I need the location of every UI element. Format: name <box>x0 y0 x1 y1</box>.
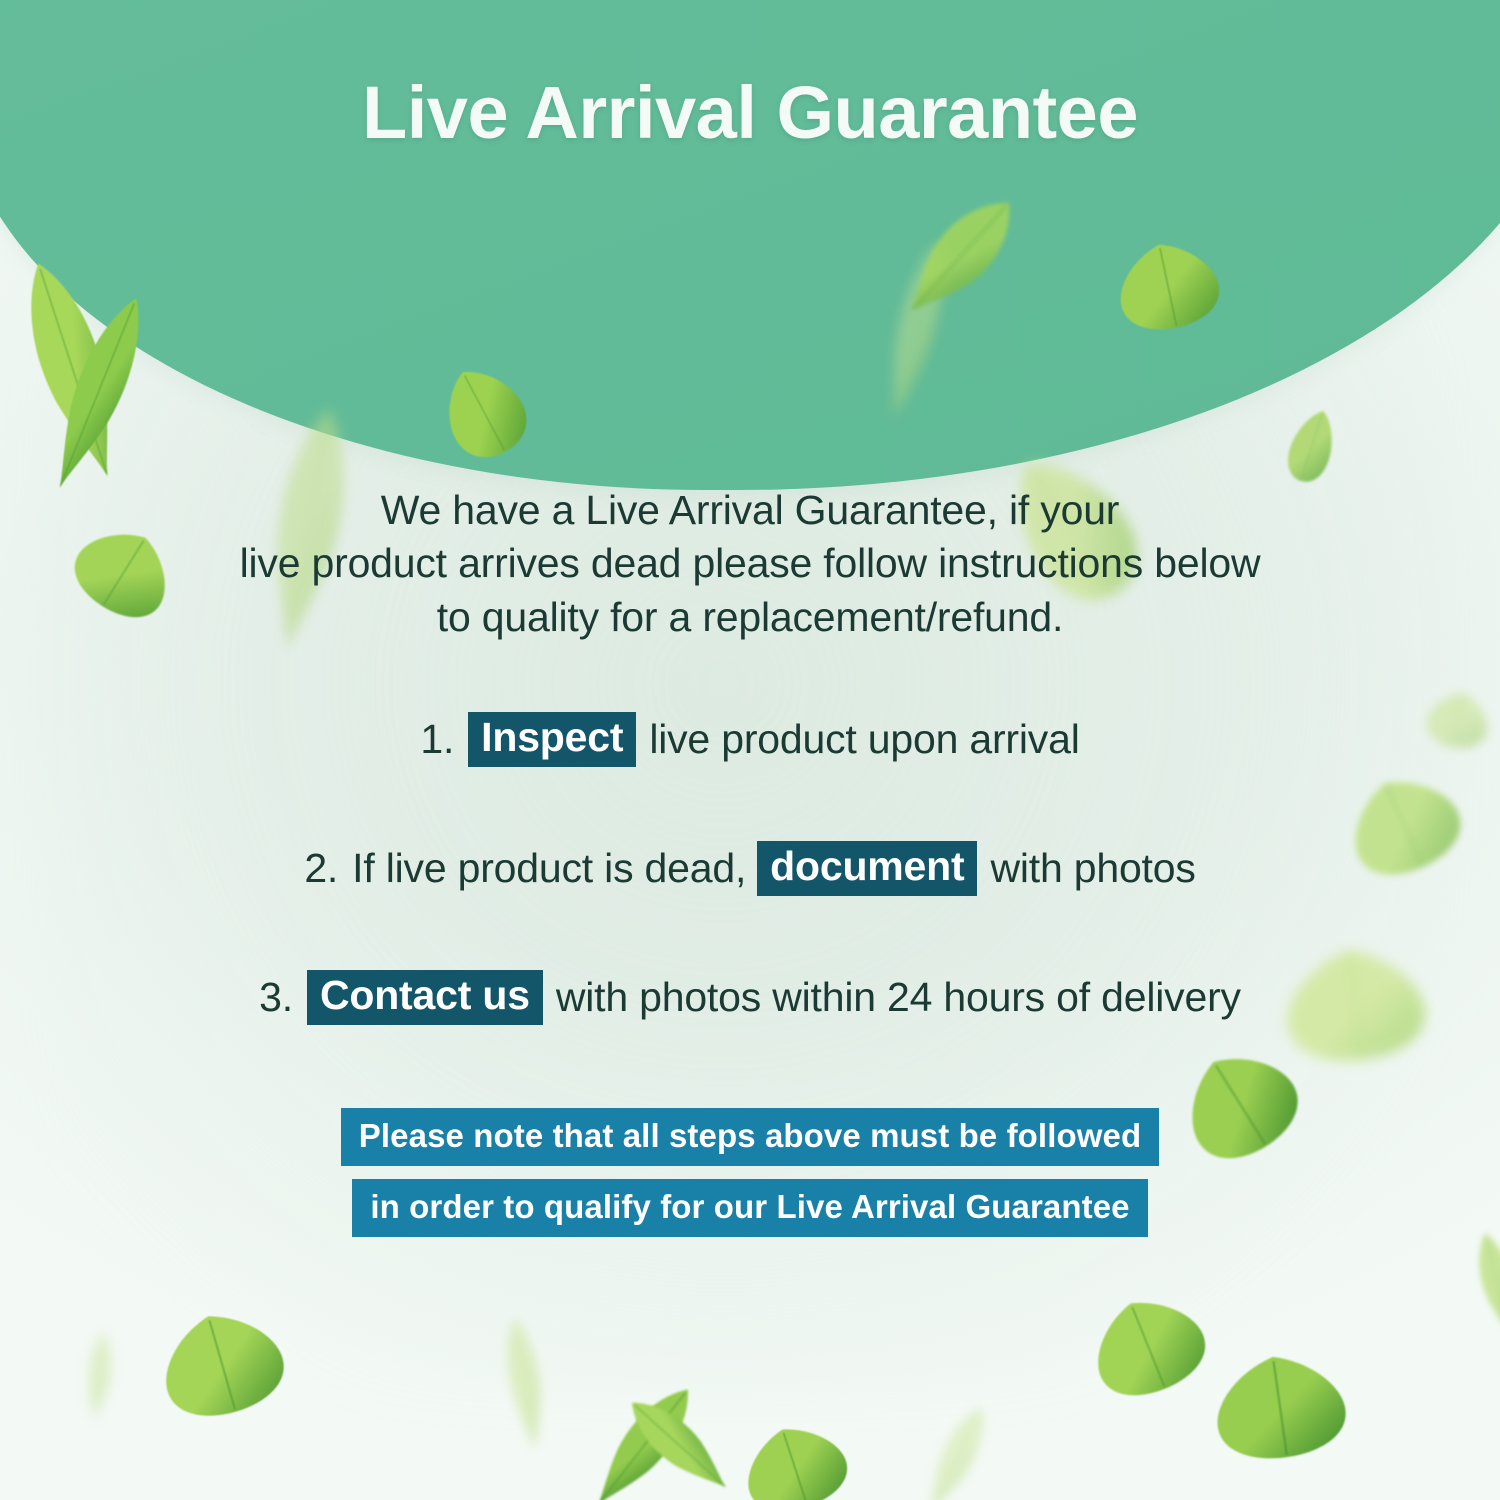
step-highlight-document: document <box>757 841 977 896</box>
step-highlight-contact-us: Contact us <box>307 970 543 1025</box>
step-item-2: 2. If live product is dead, document wit… <box>0 841 1500 896</box>
note-line-2: in order to qualify for our Live Arrival… <box>352 1179 1147 1237</box>
step-highlight-inspect: Inspect <box>468 712 636 767</box>
live-arrival-guarantee-poster: Live Arrival Guarantee We have a Live Ar… <box>0 0 1500 1500</box>
instruction-steps-list: 1. Inspect live product upon arrival 2. … <box>0 712 1500 1025</box>
step-text-3: with photos within 24 hours of delivery <box>556 974 1241 1021</box>
page-title: Live Arrival Guarantee <box>0 74 1500 152</box>
step-number-1: 1. <box>420 716 454 763</box>
step-text-2: with photos <box>990 845 1195 892</box>
intro-line-3: to quality for a replacement/refund. <box>0 591 1500 644</box>
step-item-3: 3. Contact us with photos within 24 hour… <box>0 970 1500 1025</box>
step-text-1: live product upon arrival <box>649 716 1079 763</box>
step-number-3: 3. <box>259 974 293 1021</box>
intro-paragraph: We have a Live Arrival Guarantee, if you… <box>0 484 1500 644</box>
note-line-1: Please note that all steps above must be… <box>341 1108 1159 1166</box>
step-number-2: 2. <box>304 845 338 892</box>
intro-line-2: live product arrives dead please follow … <box>0 537 1500 590</box>
step-item-1: 1. Inspect live product upon arrival <box>0 712 1500 767</box>
note-banner: Please note that all steps above must be… <box>0 1108 1500 1237</box>
step-pretext-2: If live product is dead, <box>352 845 746 892</box>
intro-line-1: We have a Live Arrival Guarantee, if you… <box>0 484 1500 537</box>
